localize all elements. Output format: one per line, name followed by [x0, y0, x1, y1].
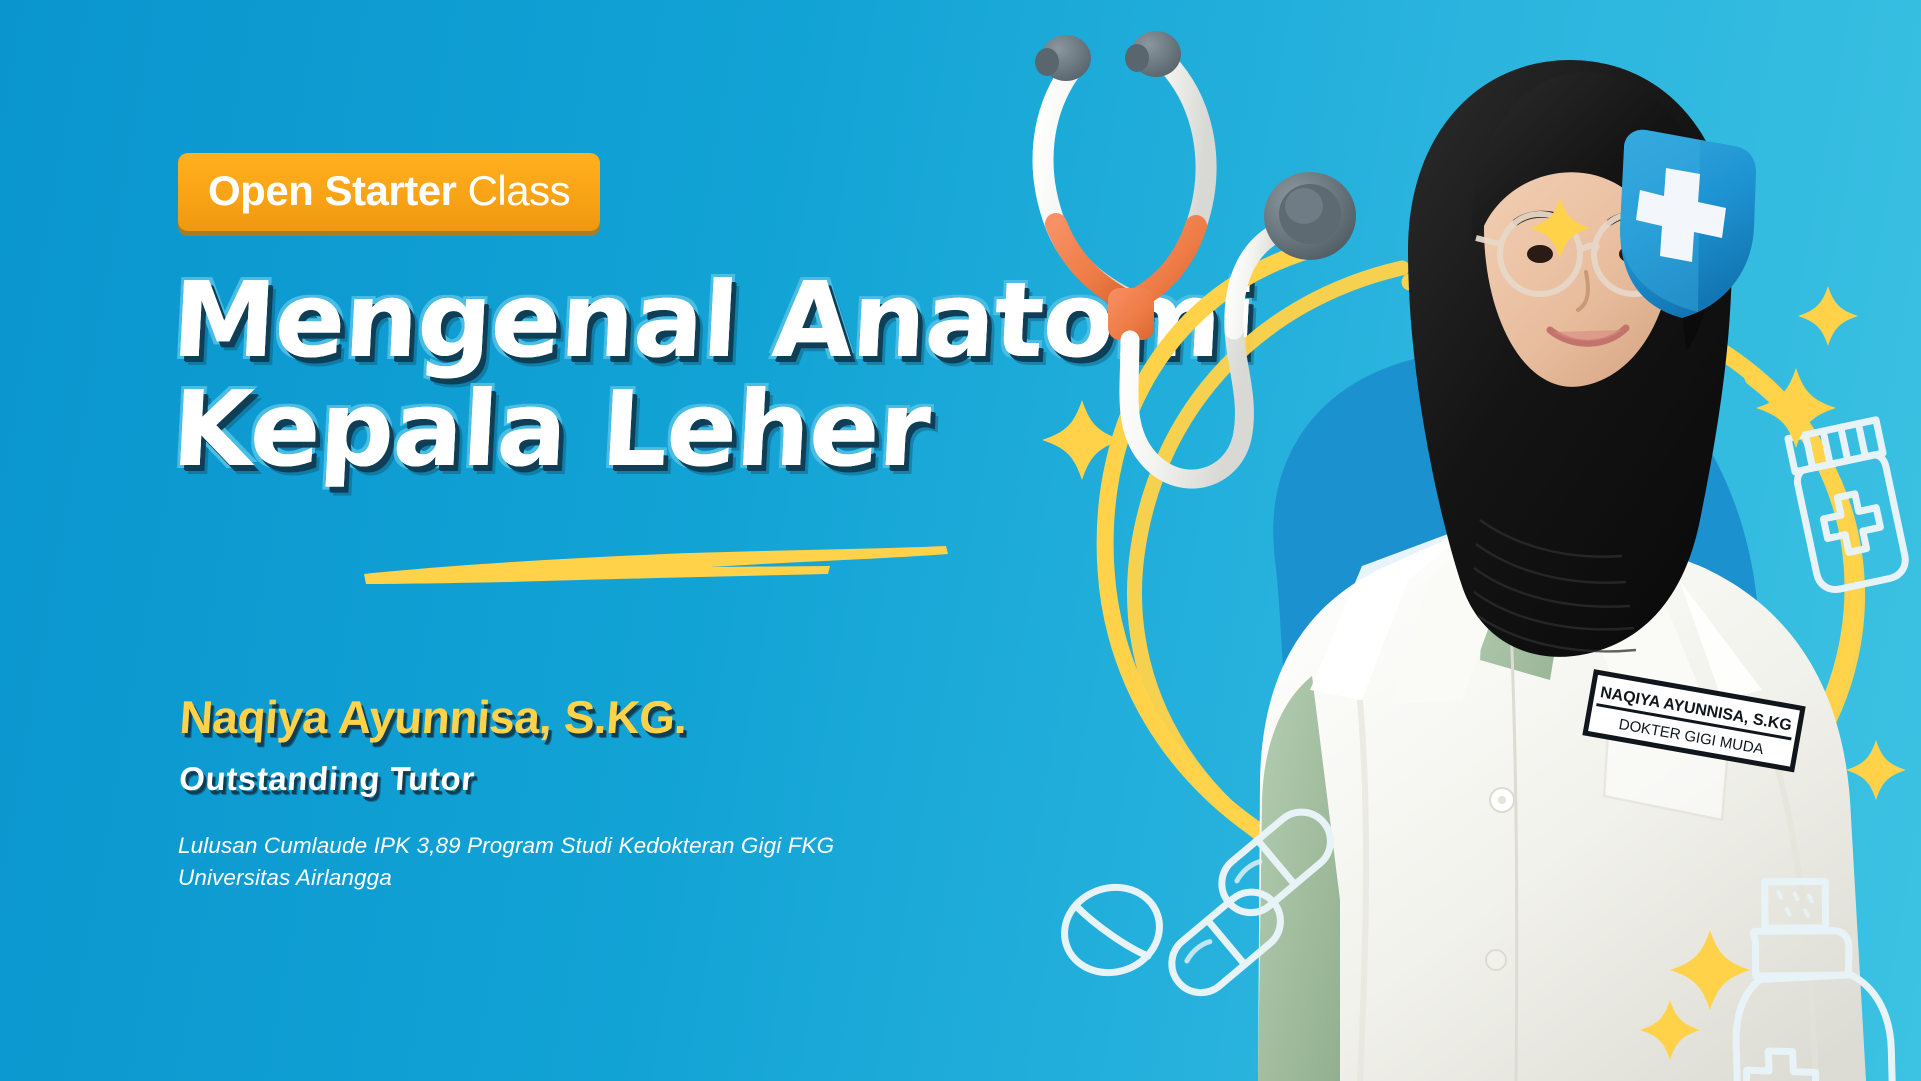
headline-underline-brush	[360, 540, 960, 586]
tutor-description: Lulusan Cumlaude IPK 3,89 Program Studi …	[178, 830, 898, 894]
headline-line-1: Mengenal Anatomi	[170, 272, 1075, 369]
sparkle-star-icon	[1798, 286, 1858, 346]
open-starter-class-badge: Open Starter Class	[178, 153, 600, 231]
headline: Mengenal Anatomi Kepala Leher	[170, 272, 1070, 477]
tablet-pill-icon	[1053, 875, 1170, 985]
badge-label-strong: Open Starter	[208, 167, 456, 214]
illustration-cluster: NAQIYA AYUNNISA, S.KG DOKTER GIGI MUDA	[1010, 0, 1921, 1081]
tutor-role: Outstanding Tutor	[178, 760, 476, 798]
sparkle-star-icon	[1846, 740, 1906, 800]
headline-line-2: Kepala Leher	[170, 381, 1075, 478]
promo-banner: Open Starter Class Mengenal Anatomi Kepa…	[0, 0, 1921, 1081]
badge-label-light: Class	[468, 167, 571, 214]
medical-shield-icon	[1620, 130, 1756, 318]
text-column: Open Starter Class Mengenal Anatomi Kepa…	[178, 0, 1058, 1081]
badge-label: Open Starter Class	[208, 170, 570, 212]
tutor-name: Naqiya Ayunnisa, S.KG.	[178, 690, 689, 744]
